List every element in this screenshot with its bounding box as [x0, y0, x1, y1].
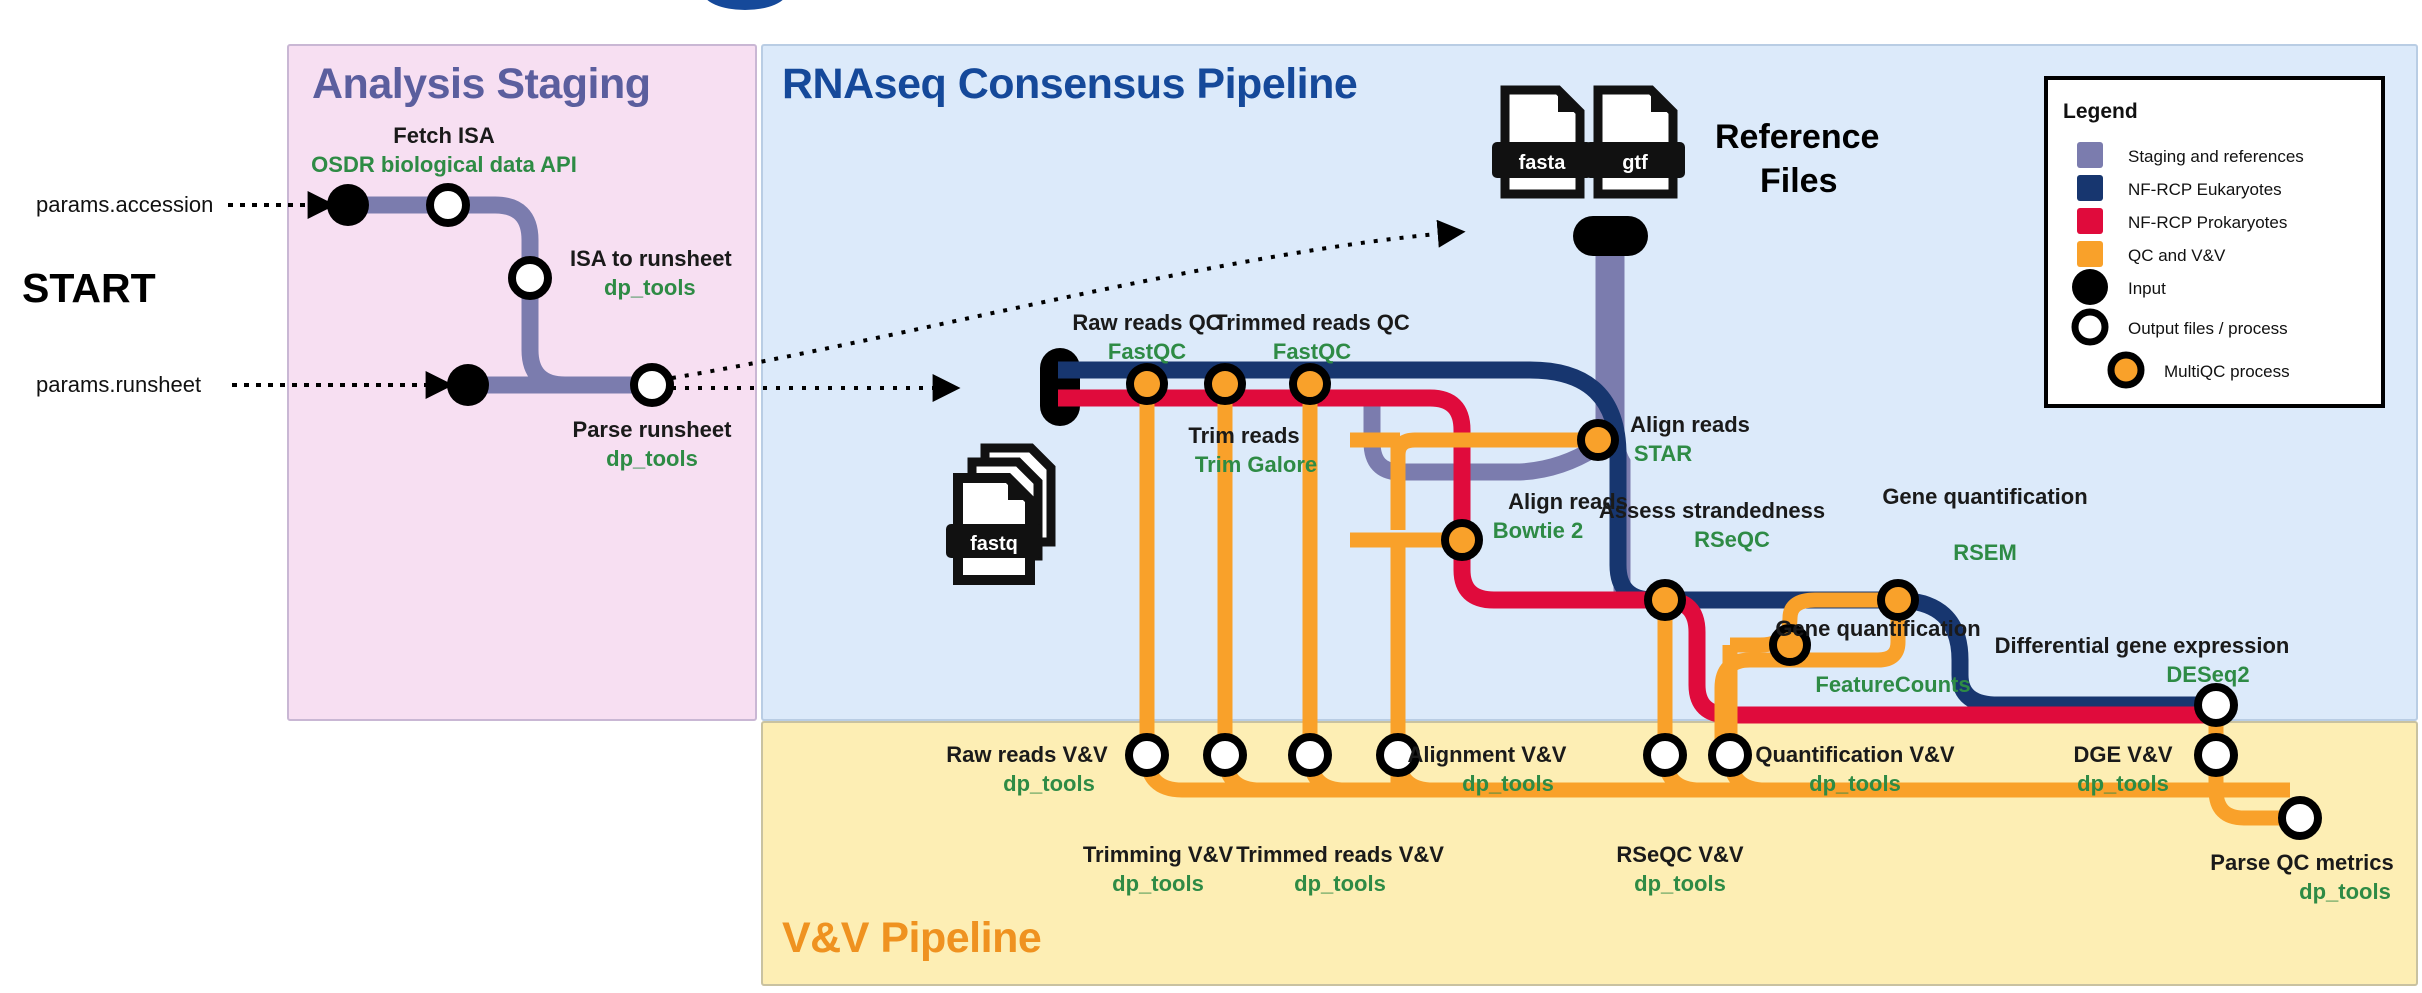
node-quantification-vv[interactable]: [1712, 737, 1748, 773]
node-tool-rseqc-vv: dp_tools: [1634, 871, 1726, 896]
node-trimmed-reads-vv[interactable]: [1292, 737, 1328, 773]
node-label-alignment-vv: Alignment V&V: [1408, 742, 1567, 767]
panel-title-staging: Analysis Staging: [312, 60, 650, 108]
legend-swatch-prokaryotes: [2077, 208, 2103, 234]
reference-file-icon-fasta: fasta: [1492, 90, 1592, 194]
node-label-fetch-isa: Fetch ISA: [393, 123, 495, 148]
node-dge-vv[interactable]: [2198, 737, 2234, 773]
diagram-canvas: Analysis Staging RNAseq Consensus Pipeli…: [0, 0, 2422, 993]
reference-file-tag-gtf: gtf: [1622, 152, 1648, 174]
node-tool-trimmed-reads-vv: dp_tools: [1294, 871, 1386, 896]
legend-marker-input: [2072, 269, 2108, 305]
node-parse-runsheet[interactable]: [634, 367, 670, 403]
node-differential-gene-expression[interactable]: [2198, 687, 2234, 723]
node-label-parse-qc-metrics: Parse QC metrics: [2210, 850, 2393, 875]
node-raw-reads-qc[interactable]: [1130, 367, 1164, 401]
node-trimming-vv[interactable]: [1207, 737, 1243, 773]
node-label-trimmed-reads-qc: Trimmed reads QC: [1214, 310, 1410, 335]
panel-title-rnaseq: RNAseq Consensus Pipeline: [782, 60, 1357, 108]
node-align-reads-star[interactable]: [1581, 423, 1615, 457]
node-label-quantification-vv: Quantification V&V: [1755, 742, 1955, 767]
node-tool-align-reads-bowtie2: Bowtie 2: [1493, 518, 1583, 543]
node-label-trim-reads: Trim reads: [1188, 423, 1299, 448]
legend-label-eukaryotes: NF-RCP Eukaryotes: [2128, 180, 2282, 199]
node-tool-trimmed-reads-qc: FastQC: [1273, 339, 1351, 364]
node-label-align-reads-star: Align reads: [1630, 412, 1750, 437]
staging-input-node-accession: [327, 184, 369, 226]
node-tool-isa-to-runsheet: dp_tools: [604, 275, 696, 300]
node-tool-dge-vv: dp_tools: [2077, 771, 2169, 796]
staging-input-node-runsheet: [447, 364, 489, 406]
node-label-parse-runsheet: Parse runsheet: [573, 417, 733, 442]
fastq-file-tag: fastq: [970, 533, 1018, 555]
legend-label-output: Output files / process: [2128, 319, 2288, 338]
legend-label-staging: Staging and references: [2128, 147, 2304, 166]
node-gene-quantification-rsem[interactable]: [1881, 583, 1915, 617]
node-tool-trimming-vv: dp_tools: [1112, 871, 1204, 896]
node-label-dge-vv: DGE V&V: [2073, 742, 2172, 767]
legend-label-qc-and-vv: QC and V&V: [2128, 246, 2226, 265]
node-tool-gene-quantification-featurecounts: FeatureCounts: [1815, 672, 1970, 697]
node-rseqc-vv[interactable]: [1647, 737, 1683, 773]
node-tool-align-reads-star: STAR: [1634, 441, 1692, 466]
node-label-gene-quantification-rsem: Gene quantification: [1882, 484, 2087, 509]
reference-file-tag-fasta: fasta: [1519, 152, 1567, 174]
legend-label-input: Input: [2128, 279, 2166, 298]
node-tool-alignment-vv: dp_tools: [1462, 771, 1554, 796]
node-tool-raw-reads-qc: FastQC: [1108, 339, 1186, 364]
node-isa-to-runsheet[interactable]: [512, 260, 548, 296]
node-tool-raw-reads-vv: dp_tools: [1003, 771, 1095, 796]
node-fetch-isa[interactable]: [430, 187, 466, 223]
pipeline-start-terminus: [1040, 348, 1080, 426]
legend-swatch-eukaryotes: [2077, 175, 2103, 201]
node-parse-qc-metrics[interactable]: [2282, 800, 2318, 836]
node-tool-trim-reads: Trim Galore: [1195, 452, 1317, 477]
node-label-differential-gene-expression: Differential gene expression: [1995, 633, 2290, 658]
legend: Legend Staging and references NF-RCP Euk…: [2046, 78, 2383, 406]
node-tool-parse-qc-metrics: dp_tools: [2299, 879, 2391, 904]
legend-swatch-staging: [2077, 142, 2103, 168]
node-label-gene-quantification-featurecounts: Gene quantification: [1775, 616, 1980, 641]
legend-marker-multiqc: [2111, 355, 2141, 385]
legend-swatch-qc-and-vv: [2077, 241, 2103, 267]
node-tool-gene-quantification-rsem: RSEM: [1953, 540, 2017, 565]
node-trim-reads[interactable]: [1208, 367, 1242, 401]
reference-file-icon-gtf: gtf: [1585, 90, 1685, 194]
node-label-trimming-vv: Trimming V&V: [1083, 842, 1234, 867]
decorative-ellipse: [703, 0, 787, 10]
node-label-rseqc-vv: RSeQC V&V: [1616, 842, 1743, 867]
node-label-isa-to-runsheet: ISA to runsheet: [570, 246, 732, 271]
reference-files-title-line2: Files: [1760, 162, 1837, 200]
node-trimmed-reads-qc[interactable]: [1293, 367, 1327, 401]
node-align-reads-bowtie2[interactable]: [1445, 523, 1479, 557]
node-label-assess-strandedness: Assess strandedness: [1599, 498, 1825, 523]
reference-files-title-line1: Reference: [1715, 118, 1879, 156]
start-label: START: [22, 265, 156, 311]
legend-title: Legend: [2063, 100, 2138, 123]
panel-title-vv: V&V Pipeline: [782, 914, 1041, 962]
input-label-accession: params.accession: [36, 192, 213, 217]
node-tool-assess-strandedness: RSeQC: [1694, 527, 1770, 552]
reference-files-terminus: [1573, 216, 1648, 256]
node-tool-fetch-isa: OSDR biological data API: [311, 152, 577, 177]
legend-label-multiqc: MultiQC process: [2164, 362, 2290, 381]
node-assess-strandedness[interactable]: [1648, 583, 1682, 617]
legend-label-prokaryotes: NF-RCP Prokaryotes: [2128, 213, 2287, 232]
node-tool-parse-runsheet: dp_tools: [606, 446, 698, 471]
node-label-raw-reads-qc: Raw reads QC: [1072, 310, 1221, 335]
node-label-trimmed-reads-vv: Trimmed reads V&V: [1236, 842, 1444, 867]
node-raw-reads-vv[interactable]: [1129, 737, 1165, 773]
legend-marker-output: [2075, 312, 2105, 342]
pipeline-diagram: Analysis Staging RNAseq Consensus Pipeli…: [0, 0, 2422, 993]
node-tool-differential-gene-expression: DESeq2: [2166, 662, 2249, 687]
node-tool-quantification-vv: dp_tools: [1809, 771, 1901, 796]
node-label-raw-reads-vv: Raw reads V&V: [946, 742, 1108, 767]
input-label-runsheet: params.runsheet: [36, 372, 201, 397]
